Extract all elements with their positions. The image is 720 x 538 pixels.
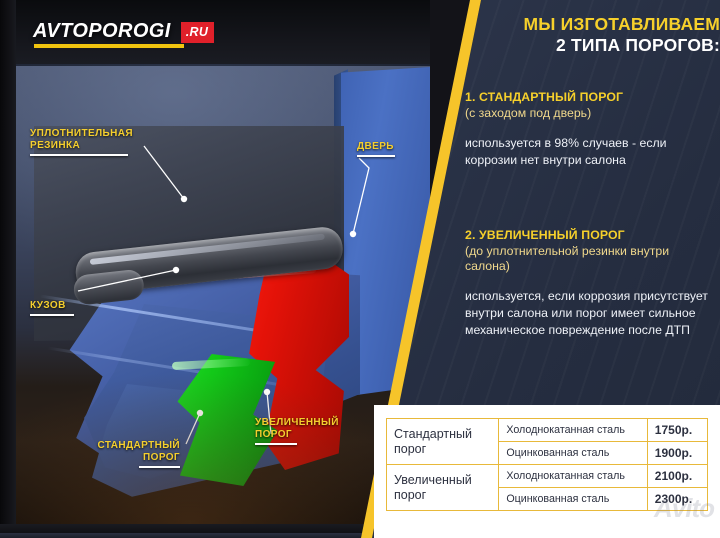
sill-type-2-subtitle: (до уплотнительной резинки внутри салона…: [465, 244, 715, 274]
price-row-type-enlarged: Увеличенный порог: [387, 465, 499, 511]
illustration-panel: УПЛОТНИТЕЛЬНАЯ РЕЗИНКА КУЗОВ СТАНДАРТНЫЙ…: [0, 0, 430, 538]
car-body-shape-lower: [30, 304, 330, 494]
price-row-price: 2100р.: [647, 465, 707, 488]
callout-standard-sill-line1: СТАНДАРТНЫЙ: [95, 440, 180, 452]
sill-type-2-title: 2. УВЕЛИЧЕННЫЙ ПОРОГ: [465, 228, 715, 243]
brand-logo-tld-badge: .RU: [181, 22, 214, 43]
brand-logo-wordmark: AVTOPOROGI: [33, 20, 171, 43]
callout-enlarged-sill: УВЕЛИЧЕННЫЙ ПОРОГ: [255, 417, 339, 445]
price-row-steel: Холоднокатанная сталь: [499, 419, 647, 442]
brand-logo-text: AVTOPOROGI: [33, 20, 171, 42]
callout-enlarged-sill-line1: УВЕЛИЧЕННЫЙ: [255, 417, 339, 429]
sill-type-block-standard: 1. СТАНДАРТНЫЙ ПОРОГ (с заходом под двер…: [465, 90, 715, 169]
sill-type-1-subtitle: (с заходом под дверь): [465, 106, 715, 121]
callout-standard-sill-rule: [139, 466, 180, 468]
callout-rubber-seal: УПЛОТНИТЕЛЬНАЯ РЕЗИНКА: [30, 128, 133, 156]
frame-bottom-strip: [0, 533, 380, 538]
sill-type-block-enlarged: 2. УВЕЛИЧЕННЫЙ ПОРОГ (до уплотнительной …: [465, 228, 715, 339]
frame-left-edge: [0, 0, 16, 538]
callout-standard-sill: СТАНДАРТНЫЙ ПОРОГ: [95, 440, 180, 468]
price-row-type-standard: Стандартный порог: [387, 419, 499, 465]
standard-sill-highlight: [172, 358, 250, 370]
callout-rubber-seal-line2: РЕЗИНКА: [30, 140, 133, 152]
callout-car-body-label: КУЗОВ: [30, 300, 74, 312]
price-row-price: 1900р.: [647, 442, 707, 465]
callout-rubber-seal-rule: [30, 154, 128, 156]
brand-logo-underline: [34, 44, 184, 48]
body-crease-line-2: [47, 346, 294, 388]
callout-door: ДВЕРЬ: [357, 141, 395, 157]
callout-standard-sill-line2: ПОРОГ: [95, 452, 180, 464]
price-row-steel: Оцинкованная сталь: [499, 442, 647, 465]
price-table-panel: Стандартный порог Холоднокатанная сталь …: [374, 405, 720, 538]
avito-watermark: Avito: [654, 493, 714, 524]
callout-door-rule: [357, 155, 395, 157]
callout-car-body-rule: [30, 314, 74, 316]
sill-type-1-description: используется в 98% случаев - если корроз…: [465, 135, 715, 169]
callout-enlarged-sill-rule: [255, 443, 297, 445]
poster-root: УПЛОТНИТЕЛЬНАЯ РЕЗИНКА КУЗОВ СТАНДАРТНЫЙ…: [0, 0, 720, 538]
brand-logo[interactable]: AVTOPOROGI .RU: [33, 20, 214, 43]
price-row-steel: Оцинкованная сталь: [499, 488, 647, 511]
page-title: МЫ ИЗГОТАВЛИВАЕМ 2 ТИПА ПОРОГОВ:: [465, 14, 720, 56]
callout-enlarged-sill-line2: ПОРОГ: [255, 429, 339, 441]
headline-line-1: МЫ ИЗГОТАВЛИВАЕМ: [465, 14, 720, 35]
callout-car-body: КУЗОВ: [30, 300, 74, 316]
sill-type-1-title: 1. СТАНДАРТНЫЙ ПОРОГ: [465, 90, 715, 105]
sill-type-2-description: используется, если коррозия присутствует…: [465, 288, 715, 339]
table-row: Увеличенный порог Холоднокатанная сталь …: [387, 465, 708, 488]
table-row: Стандартный порог Холоднокатанная сталь …: [387, 419, 708, 442]
price-row-price: 1750р.: [647, 419, 707, 442]
callout-door-label: ДВЕРЬ: [357, 141, 395, 153]
headline-line-2: 2 ТИПА ПОРОГОВ:: [465, 35, 720, 56]
price-row-steel: Холоднокатанная сталь: [499, 465, 647, 488]
callout-rubber-seal-line1: УПЛОТНИТЕЛЬНАЯ: [30, 128, 133, 140]
